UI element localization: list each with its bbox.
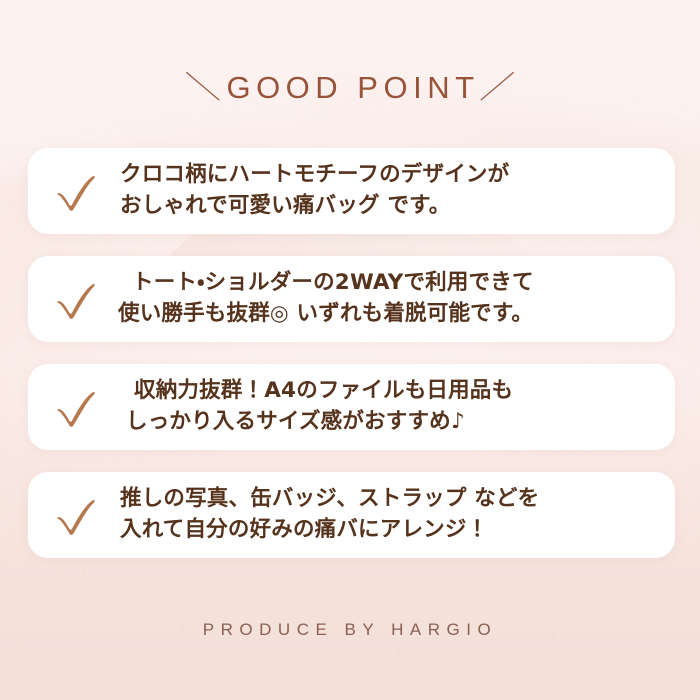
good-point-banner: ＼GOOD POINT／ クロコ柄にハートモチーフのデザインが おしゃれで可愛い… (0, 0, 700, 700)
list-item-text: 収納力抜群！A4のファイルも日用品も しっかり入るサイズ感がおすすめ♪ (118, 376, 675, 437)
list-item-line-2: 入れて自分の好みの痛バにアレンジ！ (120, 515, 657, 546)
header: ＼GOOD POINT／ (0, 62, 700, 107)
list-item: クロコ柄にハートモチーフのデザインが おしゃれで可愛い痛バッグ です。 (28, 148, 675, 234)
page-title-text: GOOD POINT (226, 70, 479, 105)
list-item: トート・ショルダーの2WAYで利用できて 使い勝手も抜群◎ いずれも着脱可能です… (28, 256, 675, 342)
check-cell (28, 384, 118, 430)
point-list: クロコ柄にハートモチーフのデザインが おしゃれで可愛い痛バッグ です。 トート・… (28, 148, 675, 558)
check-cell (28, 276, 118, 322)
list-item-text: クロコ柄にハートモチーフのデザインが おしゃれで可愛い痛バッグ です。 (118, 160, 675, 221)
list-item-line-1: クロコ柄にハートモチーフのデザインが (120, 160, 657, 191)
check-icon (53, 384, 99, 430)
check-icon (53, 276, 99, 322)
list-item-text: 推しの写真、缶バッジ、ストラップ などを 入れて自分の好みの痛バにアレンジ！ (118, 484, 675, 545)
list-item-line-2: しっかり入るサイズ感がおすすめ♪ (126, 407, 657, 438)
list-item-text: トート・ショルダーの2WAYで利用できて 使い勝手も抜群◎ いずれも着脱可能です… (118, 268, 675, 329)
producer-credit: PRODUCE BY HARGIO (203, 620, 497, 640)
check-icon (53, 168, 99, 214)
list-item-line-2: おしゃれで可愛い痛バッグ です。 (120, 191, 657, 222)
slash-right-decoration: ／ (478, 62, 517, 107)
check-cell (28, 492, 118, 538)
list-item: 収納力抜群！A4のファイルも日用品も しっかり入るサイズ感がおすすめ♪ (28, 364, 675, 450)
list-item: 推しの写真、缶バッジ、ストラップ などを 入れて自分の好みの痛バにアレンジ！ (28, 472, 675, 558)
footer: PRODUCE BY HARGIO (0, 620, 700, 640)
list-item-line-1: 収納力抜群！A4のファイルも日用品も (126, 376, 657, 407)
slash-left-decoration: ＼ (183, 62, 222, 107)
list-item-line-1: 推しの写真、缶バッジ、ストラップ などを (120, 484, 657, 515)
list-item-line-2: 使い勝手も抜群◎ いずれも着脱可能です。 (118, 299, 657, 330)
page-title: ＼GOOD POINT／ (187, 62, 512, 107)
check-icon (53, 492, 99, 538)
check-cell (28, 168, 118, 214)
list-item-line-1: トート・ショルダーの2WAYで利用できて (118, 268, 657, 299)
